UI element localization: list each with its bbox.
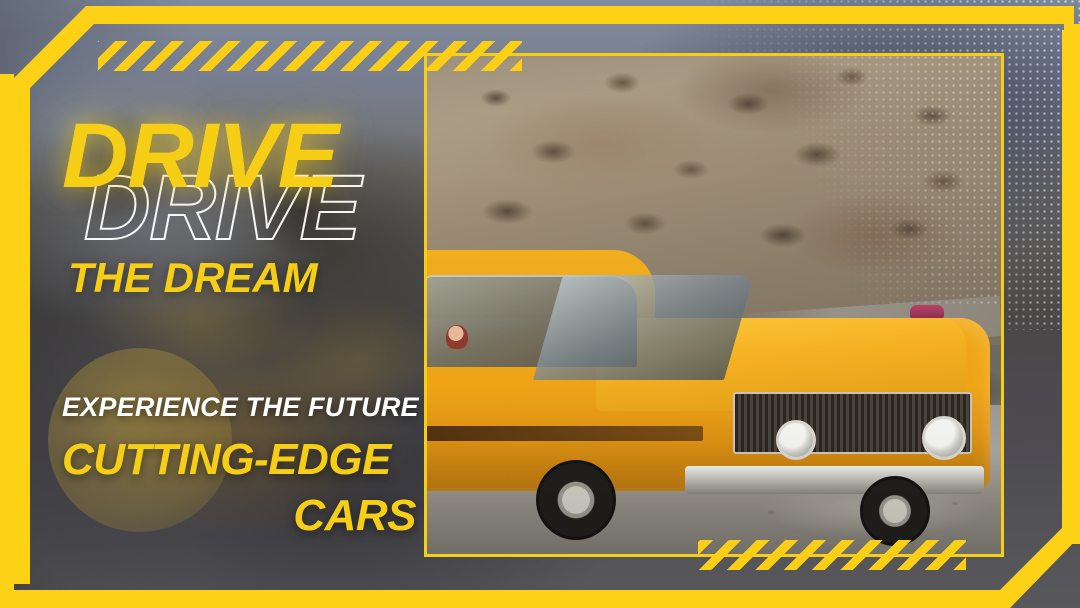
feature-headline-top: CUTTING-EDGE [62,435,422,485]
car-side-stripe [427,426,703,441]
car-front-bumper [685,466,983,494]
photo-car [427,225,990,534]
feature-copy-group: EXPERIENCE THE FUTURE CUTTING-EDGE CARS [62,392,422,541]
car-front-wheel [536,460,616,540]
page-title: DRIVE [62,112,338,200]
headline-subtitle: THE DREAM [68,254,318,302]
car-headlight-right [922,416,966,460]
promo-banner: DRIVE DRIVE THE DREAM EXPERIENCE THE FUT… [0,0,1080,608]
hero-photo [427,56,1001,554]
car-windshield [533,275,754,380]
feature-headline-bottom: CARS [62,491,422,541]
car-driver [446,325,468,349]
hero-photo-frame [424,53,1004,557]
car-rear-wheel [860,476,930,546]
feature-eyebrow: EXPERIENCE THE FUTURE [62,392,422,423]
